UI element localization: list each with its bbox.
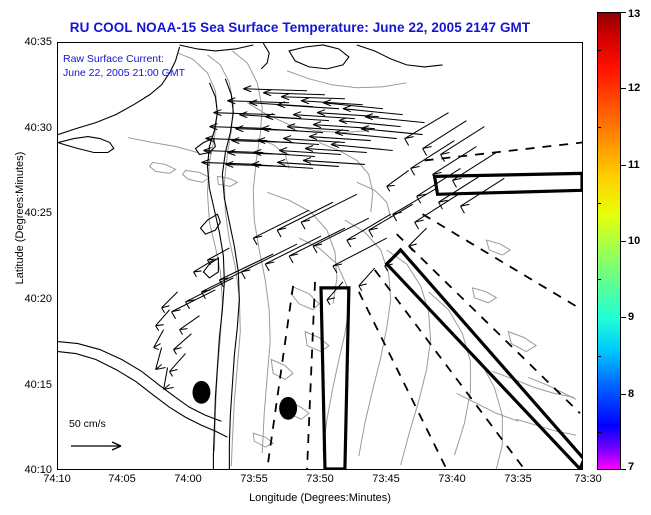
colorbar-tick xyxy=(621,88,626,89)
colorbar-minor-tick xyxy=(597,203,601,204)
colorbar-tick xyxy=(621,12,626,13)
colorbar-label: 7 xyxy=(628,461,634,473)
colorbar-minor-tick xyxy=(597,356,601,357)
ytick-label: 40:15 xyxy=(24,379,52,391)
colorbar-tick xyxy=(621,469,626,470)
map-plot-area[interactable]: Raw Surface Current: June 22, 2005 21:00… xyxy=(57,42,583,470)
xtick-label: 74:05 xyxy=(108,473,136,485)
colorbar-tick xyxy=(621,394,626,395)
coastline xyxy=(58,43,443,469)
xtick-label: 73:45 xyxy=(372,473,400,485)
xtick-label: 73:30 xyxy=(574,473,602,485)
right-arrow-icon xyxy=(69,438,131,454)
colorbar-minor-tick xyxy=(597,127,601,128)
colorbar-label: 10 xyxy=(628,235,640,247)
map-svg xyxy=(58,43,582,469)
figure-canvas: RU COOL NOAA-15 Sea Surface Temperature:… xyxy=(0,0,651,515)
colorbar-minor-tick xyxy=(597,279,601,280)
colorbar-minor-tick xyxy=(597,432,601,433)
colorbar-tick xyxy=(621,241,626,242)
colorbar-label: 9 xyxy=(628,311,634,323)
xtick-label: 73:55 xyxy=(240,473,268,485)
bathymetry-contours xyxy=(128,51,576,469)
xtick-label: 74:00 xyxy=(174,473,202,485)
ytick-label: 40:35 xyxy=(24,36,52,48)
survey-swath-polygons xyxy=(321,173,582,469)
x-axis-title: Longitude (Degrees:Minutes) xyxy=(57,492,583,504)
annotation-line-2: June 22, 2005 21:00 GMT xyxy=(63,66,185,80)
xtick-label: 73:50 xyxy=(306,473,334,485)
xtick-label: 73:35 xyxy=(504,473,532,485)
colorbar-label: 13 xyxy=(628,8,640,20)
station-markers xyxy=(192,381,297,420)
y-axis-title: Latitude (Degrees:Minutes) xyxy=(14,123,26,313)
vector-scale-label: 50 cm/s xyxy=(69,418,106,430)
colorbar-label: 11 xyxy=(628,159,640,171)
page-title: RU COOL NOAA-15 Sea Surface Temperature:… xyxy=(0,20,600,35)
annotation-line-1: Raw Surface Current: xyxy=(63,52,185,66)
colorbar-label: 12 xyxy=(628,82,640,94)
colorbar-tick xyxy=(621,165,626,166)
ytick-label: 40:25 xyxy=(24,207,52,219)
ytick-label: 40:10 xyxy=(24,464,52,476)
colorbar: 13 12 11 10 9 8 7 xyxy=(597,12,621,470)
ytick-label: 40:20 xyxy=(24,293,52,305)
vector-scale-legend: 50 cm/s xyxy=(63,418,171,464)
colorbar-gradient xyxy=(597,12,621,470)
ytick-label: 40:30 xyxy=(24,122,52,134)
xtick-label: 73:40 xyxy=(438,473,466,485)
raw-current-annotation: Raw Surface Current: June 22, 2005 21:00… xyxy=(63,52,185,80)
colorbar-minor-tick xyxy=(597,50,601,51)
colorbar-tick xyxy=(621,317,626,318)
colorbar-label: 8 xyxy=(628,388,634,400)
